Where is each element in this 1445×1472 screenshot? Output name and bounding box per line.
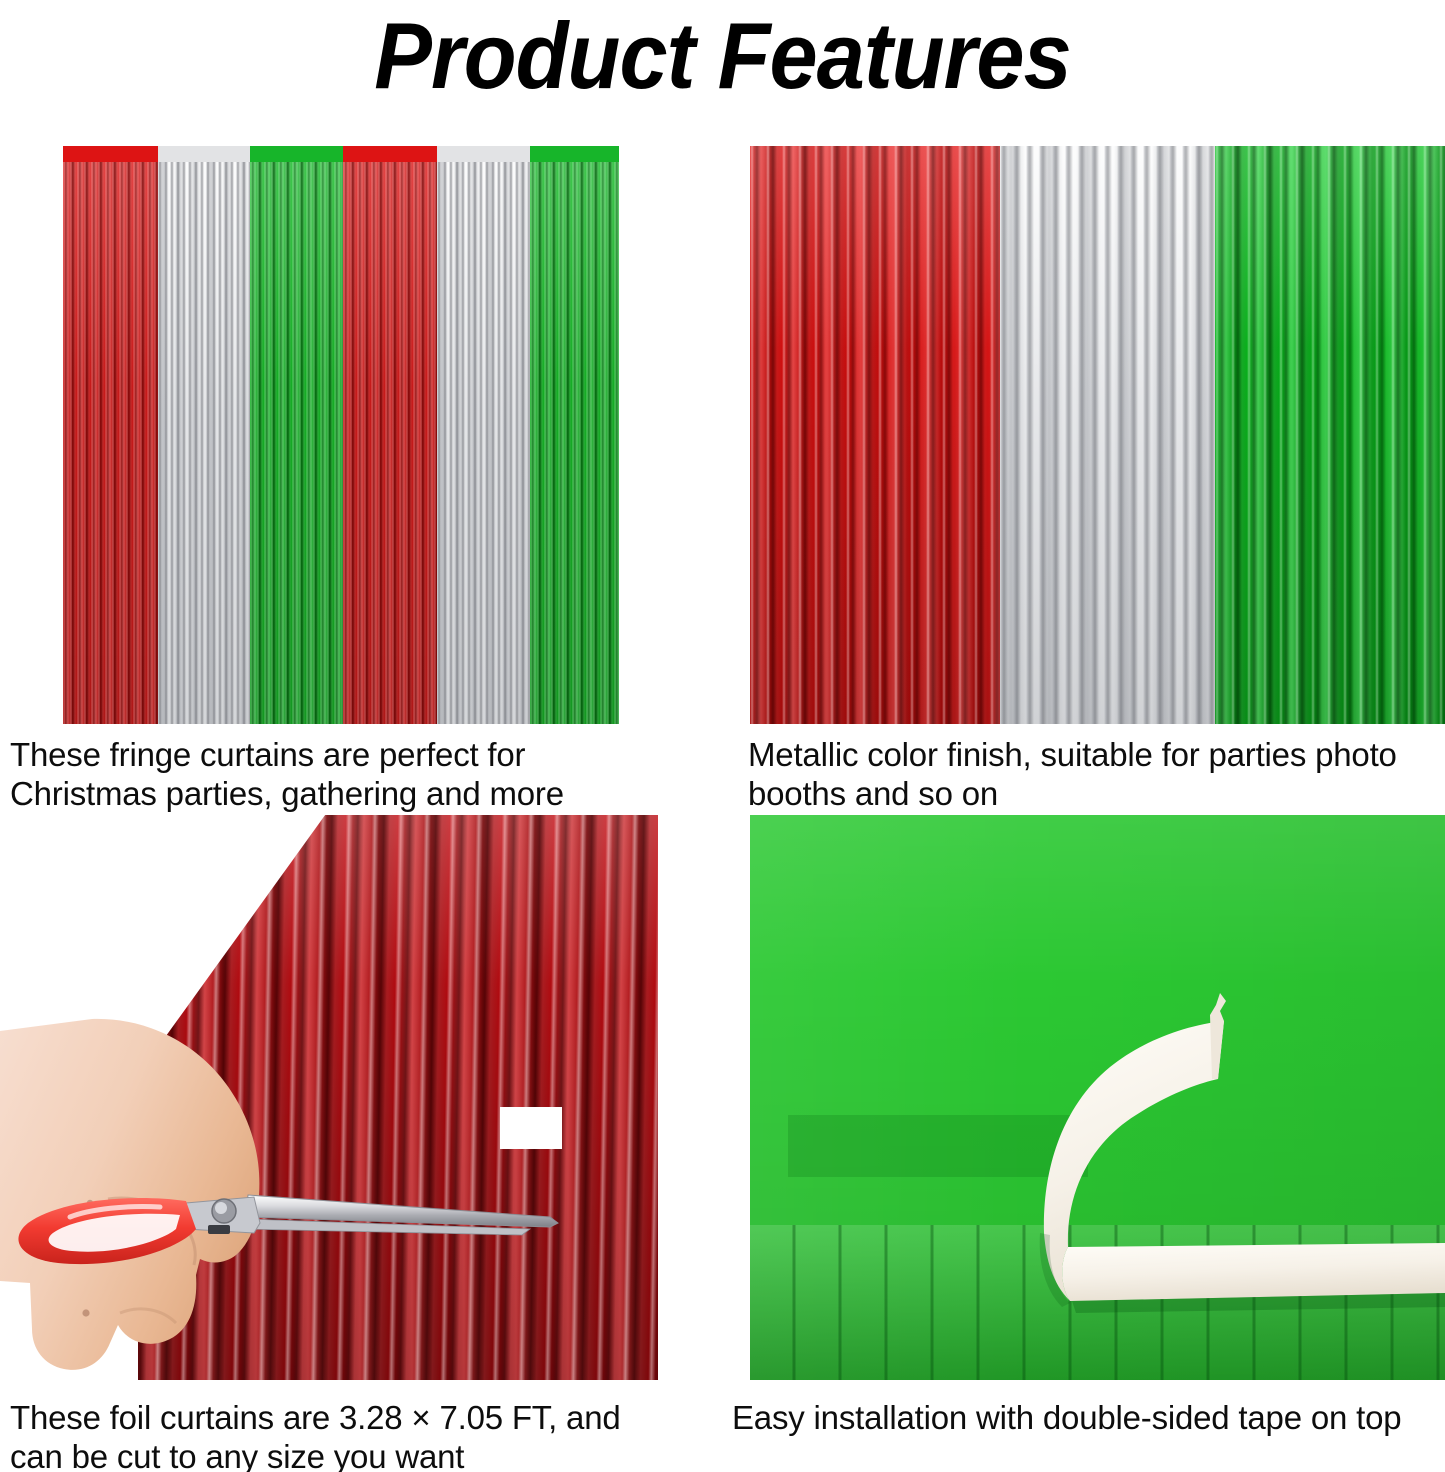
- strip-fringe-area: [437, 162, 530, 724]
- feature-caption-1: These fringe curtains are perfect for Ch…: [10, 735, 650, 813]
- strip-header-band: [158, 146, 250, 162]
- scissors-cutting-red-foil-photo: [0, 815, 658, 1380]
- strip-header-band: [63, 146, 158, 162]
- fringe-curtain-six-strips-photo: [63, 146, 619, 724]
- foil-band-green: [1215, 146, 1445, 724]
- double-sided-tape: [750, 815, 1445, 1380]
- feature-caption-2: Metallic color finish, suitable for part…: [748, 735, 1440, 813]
- feature-caption-4: Easy installation with double-sided tape…: [732, 1398, 1442, 1437]
- curtain-strip-red-1: [63, 146, 158, 724]
- metallic-foil-closeup-photo: [750, 146, 1445, 724]
- strip-header-band: [437, 146, 530, 162]
- green-foil-double-sided-tape-photo: [750, 815, 1445, 1380]
- strip-header-band: [250, 146, 343, 162]
- strip-fringe-area: [158, 162, 250, 724]
- curtain-strip-red-2: [343, 146, 437, 724]
- foil-strand-gap: [500, 1107, 562, 1149]
- strip-header-band: [530, 146, 619, 162]
- curtain-strip-green-2: [530, 146, 619, 724]
- curtain-strip-green-1: [250, 146, 343, 724]
- feature-caption-3: These foil curtains are 3.28 × 7.05 FT, …: [10, 1398, 670, 1472]
- page-title: Product Features: [58, 2, 1387, 110]
- curtain-strip-silver-1: [158, 146, 250, 724]
- strip-fringe-area: [530, 162, 619, 724]
- product-features-infographic: Product Features: [0, 0, 1445, 1472]
- foil-band-silver: [1000, 146, 1215, 724]
- scissors-icon: [10, 1167, 570, 1277]
- curtain-strip-silver-2: [437, 146, 530, 724]
- foil-band-red: [750, 146, 1000, 724]
- strip-fringe-area: [343, 162, 437, 724]
- strip-fringe-area: [250, 162, 343, 724]
- strip-header-band: [343, 146, 437, 162]
- strip-fringe-area: [63, 162, 158, 724]
